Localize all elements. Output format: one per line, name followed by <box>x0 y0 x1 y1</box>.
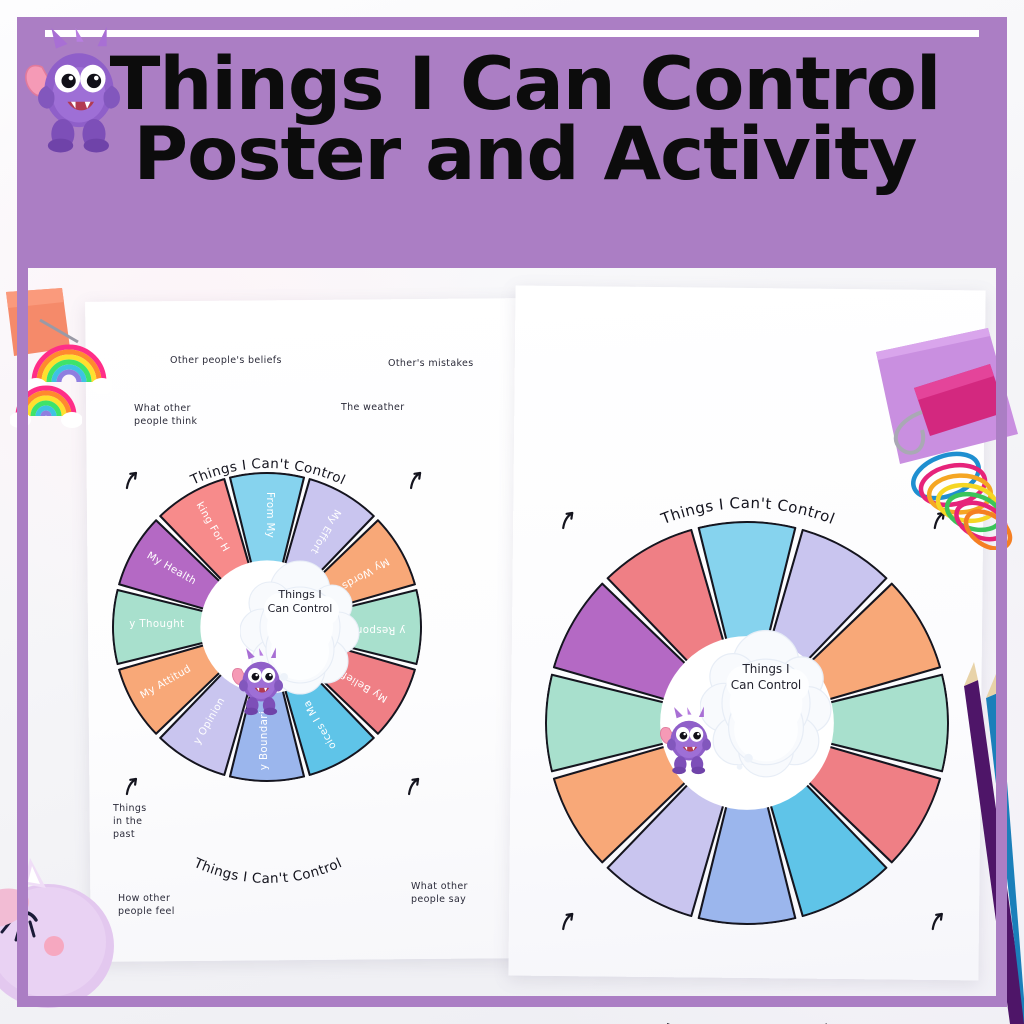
cloud-label-left: Things I Can Control <box>244 588 356 617</box>
monster-mascot-left <box>230 640 292 722</box>
page-title: Things I Can Control Poster and Activity <box>60 50 990 190</box>
cloud-line-1: Things I <box>704 662 828 678</box>
cloud-line-2: Can Control <box>704 678 828 694</box>
poster-preview-image: Other people's beliefsOther's mistakesWh… <box>0 0 1024 1024</box>
cloud-line-2: Can Control <box>244 602 356 616</box>
cloud-label-right: Things I Can Control <box>704 662 828 693</box>
unicorn-pouch <box>0 850 120 1024</box>
uncontrollable-label: How other people feel <box>118 893 175 919</box>
monster-illustration <box>232 648 283 716</box>
title-line-1: Things I Can Control <box>51 50 1000 120</box>
uncontrollable-label: What other people think <box>134 403 197 429</box>
monster-mascot-right <box>658 698 720 782</box>
cloud-line-1: Things I <box>244 588 356 602</box>
uncontrollable-label: Things in the past <box>113 803 147 841</box>
colored-pencils <box>930 640 1024 1024</box>
control-wheel-right <box>545 521 949 925</box>
monster-mascot-header <box>4 14 154 164</box>
uncontrollable-label: Other's mistakes <box>388 358 474 371</box>
uncontrollable-label: What other people say <box>411 881 468 907</box>
monster-illustration <box>26 27 120 153</box>
title-line-2: Poster and Activity <box>51 120 1000 190</box>
rainbow-paper-clip-small <box>10 378 82 430</box>
uncontrollable-label: The weather <box>341 402 404 415</box>
uncontrollable-label: Other people's beliefs <box>170 355 282 368</box>
rubber-bands <box>906 430 1024 550</box>
header-rule <box>45 30 979 37</box>
monster-illustration <box>660 707 711 775</box>
control-wheel-left: Learning From My MistakesMy EffortMy Wor… <box>112 472 422 782</box>
